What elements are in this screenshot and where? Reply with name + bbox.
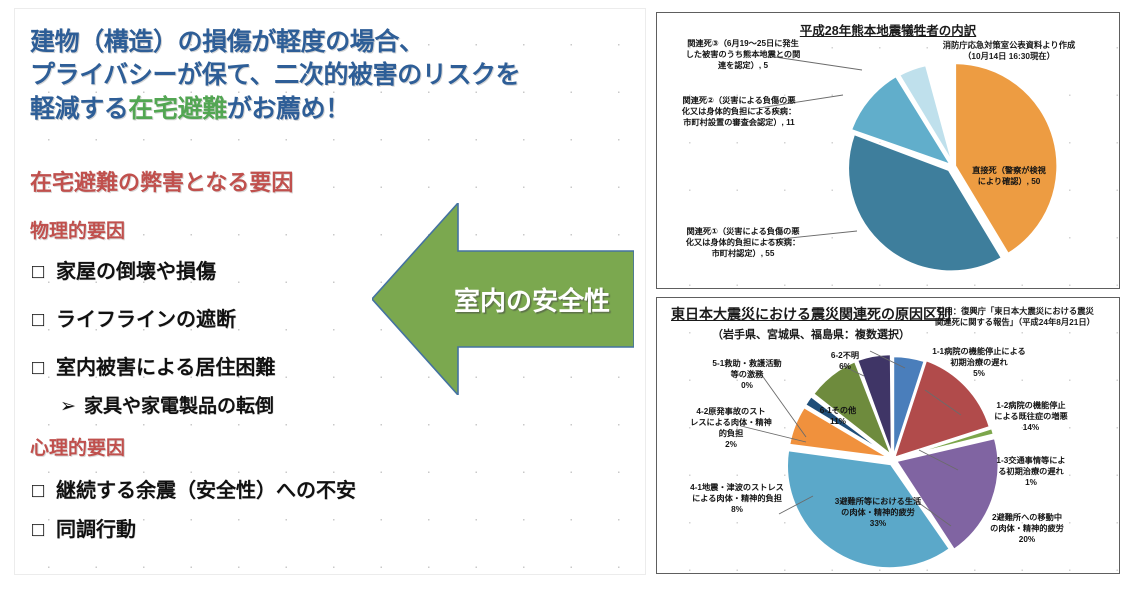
pie-label-line: 11% [795, 416, 881, 427]
pie-label-line: 8% [665, 504, 809, 515]
leader-line-1-3 [919, 450, 958, 470]
pie-label-line: の肉体・精神的疲労 [957, 523, 1097, 534]
pie-label-line: 的負担 [661, 428, 801, 439]
pie-label-line: により確認）, 50 [953, 176, 1065, 187]
slide-canvas: 建物（構造）の損傷が軽度の場合、 プライバシーが保て、二次的被害のリスクを 軽減… [0, 0, 1129, 592]
pie-label-6-1: 6-1その他 11% [795, 405, 881, 427]
headline-line-3-before: 軽減する [30, 95, 128, 123]
checkbox-icon: □ [32, 261, 56, 284]
headline-line-3-after: がお薦め！ [227, 95, 350, 123]
pie-label-line: 関連死③（6月19〜25日に発生 [663, 38, 823, 49]
pie-label-line: 33% [807, 518, 949, 529]
left-pointing-arrow: 室内の安全性 [372, 203, 634, 395]
pie-label-line: 4-2原発事故のスト [661, 406, 801, 417]
bullet-item-physical-1: □家屋の倒壊や損傷 [32, 255, 216, 284]
headline-line-3: 軽減する在宅避難がお薦め！ [30, 93, 630, 126]
checkbox-icon: □ [32, 357, 56, 380]
pie-label-line: した被害のうち熊本地震との関 [663, 49, 823, 60]
pie-label-line: 3避難所等における生活 [807, 496, 949, 507]
subsection-psychological-factors: 心理的要因 [30, 433, 125, 460]
pie-label-line: 14% [963, 422, 1099, 433]
pie-label-related-death-3: 関連死③（6月19〜25日に発生 した被害のうち熊本地震との関 連を認定）, 5 [663, 38, 823, 71]
subsection-physical-factors: 物理的要因 [30, 216, 125, 243]
pie-label-direct-death: 直接死（警察が検視 により確認）, 50 [953, 165, 1065, 187]
pie-label-line: 20% [957, 534, 1097, 545]
pie-label-1-1: 1-1病院の機能停止による 初期治療の遅れ 5% [905, 346, 1053, 379]
checkbox-icon: □ [32, 309, 56, 332]
chart-tohoku-related-deaths: 東日本大震災における震災関連死の原因区別 （岩手県、宮城県、福島県：複数選択） … [656, 297, 1120, 574]
bullet-item-physical-2: □ライフラインの遮断 [32, 303, 236, 332]
pie-label-line: 6-1その他 [795, 405, 881, 416]
pie-label-line: 関連死①（災害による負傷の悪 [663, 226, 823, 237]
pie-label-related-death-1: 関連死①（災害による負傷の悪 化又は身体的負担による疾病： 市町村認定）, 55 [663, 226, 823, 259]
pie-label-line: 連を認定）, 5 [663, 60, 823, 71]
headline-highlight-zaitaku-hinan: 在宅避難 [128, 95, 226, 123]
pie-label-line: による既往症の増悪 [963, 411, 1099, 422]
pie-label-line: 化又は身体的負担による疾病： [659, 106, 819, 117]
bullet-label: 同調行動 [56, 519, 136, 541]
pie-label-line: 6-2不明 [805, 350, 885, 361]
pie-label-line: 6% [805, 361, 885, 372]
pie-label-line: 1-2病院の機能停止 [963, 400, 1099, 411]
pie-label-line: 市町村設置の審査会認定）, 11 [659, 117, 819, 128]
pie-label-2: 2避難所への移動中 の肉体・精神的疲労 20% [957, 512, 1097, 545]
pie-label-related-death-2: 関連死②（災害による負傷の悪 化又は身体的負担による疾病： 市町村設置の審査会認… [659, 95, 819, 128]
pie-label-line: 5% [905, 368, 1053, 379]
chart-kumamoto-victims: 平成28年熊本地震犠牲者の内訳 消防庁応急対策室公表資料より作成 （10月14日… [656, 12, 1120, 289]
bullet-item-psych-1: □継続する余震（安全性）への不安 [32, 474, 356, 503]
pie-label-line: の肉体・精神的疲労 [807, 507, 949, 518]
leader-line-1-2 [925, 390, 961, 415]
arrow-icon [372, 203, 634, 395]
bullet-item-physical-3-sub: ➢家具や家電製品の転倒 [60, 391, 274, 418]
pie-label-line: 4-1地震・津波のストレス [665, 482, 809, 493]
pie-label-4-2: 4-2原発事故のスト レスによる肉体・精神 的負担 2% [661, 406, 801, 450]
pie-label-4-1: 4-1地震・津波のストレス による肉体・精神的負担 8% [665, 482, 809, 515]
pie-label-line: 等の激務 [681, 369, 813, 380]
pie-label-line: 1-1病院の機能停止による [905, 346, 1053, 357]
bullet-label: 室内被害による居住困難 [56, 357, 275, 379]
pie-label-line: レスによる肉体・精神 [661, 417, 801, 428]
pie-label-line: 2% [661, 439, 801, 450]
pie-label-line: る初期治療の遅れ [963, 466, 1099, 477]
pie-label-line: 1-3交通事情等によ [963, 455, 1099, 466]
section-title-obstacle-factors: 在宅避難の弊害となる要因 [30, 165, 293, 197]
pie-label-line: による肉体・精神的負担 [665, 493, 809, 504]
pie-label-line: 0% [681, 380, 813, 391]
bullet-label: 家屋の倒壊や損傷 [56, 261, 216, 283]
pie-label-line: 関連死②（災害による負傷の悪 [659, 95, 819, 106]
bullet-item-physical-3: □室内被害による居住困難 [32, 351, 275, 380]
bullet-label: 家具や家電製品の転倒 [84, 396, 274, 417]
pie-label-1-2: 1-2病院の機能停止 による既往症の増悪 14% [963, 400, 1099, 433]
pie-label-line: 市町村認定）, 55 [663, 248, 823, 259]
pie-label-3: 3避難所等における生活 の肉体・精神的疲労 33% [807, 496, 949, 529]
pie-label-line: 化又は身体的負担による疾病： [663, 237, 823, 248]
bullet-label: 継続する余震（安全性）への不安 [56, 480, 356, 502]
pie-label-line: 1% [963, 477, 1099, 488]
pie-label-1-3: 1-3交通事情等によ る初期治療の遅れ 1% [963, 455, 1099, 488]
pie-label-line: 直接死（警察が検視 [953, 165, 1065, 176]
pie-label-line: 5-1救助・救護活動 [681, 358, 813, 369]
headline-line-2: プライバシーが保て、二次的被害のリスクを [30, 59, 630, 92]
checkbox-icon: □ [32, 480, 56, 503]
headline-block: 建物（構造）の損傷が軽度の場合、 プライバシーが保て、二次的被害のリスクを 軽減… [30, 26, 630, 126]
pie-label-line: 2避難所への移動中 [957, 512, 1097, 523]
checkbox-icon: □ [32, 519, 56, 542]
headline-line-1: 建物（構造）の損傷が軽度の場合、 [30, 26, 630, 59]
bullet-item-psych-2: □同調行動 [32, 513, 136, 542]
bullet-label: ライフラインの遮断 [56, 309, 236, 331]
arrow-bullet-icon: ➢ [60, 395, 84, 418]
pie-label-6-2: 6-2不明 6% [805, 350, 885, 372]
pie-label-line: 初期治療の遅れ [905, 357, 1053, 368]
pie-label-5-1: 5-1救助・救護活動 等の激務 0% [681, 358, 813, 391]
